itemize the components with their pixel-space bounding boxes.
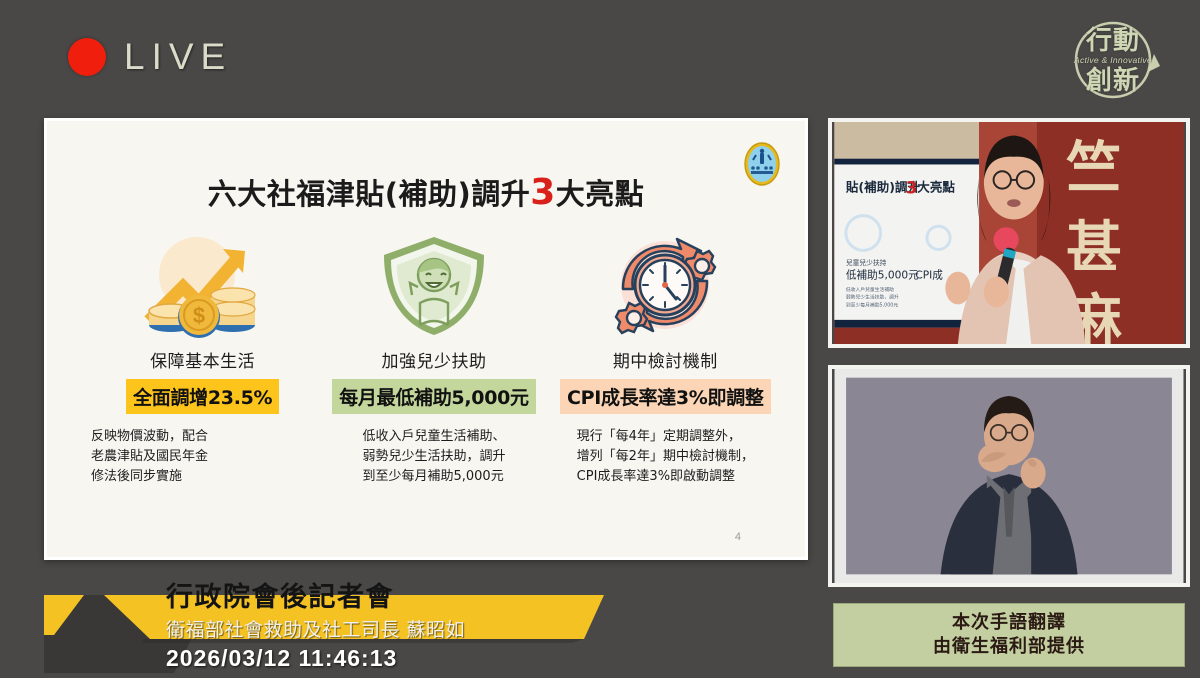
- brand-logo: 行動 Active & Innovative 創新: [1048, 14, 1178, 106]
- highlight-label-2: 加強兒少扶助: [381, 347, 486, 372]
- highlight-description-1: 反映物價波動，配合 老農津貼及國民年金 修法後同步實施: [91, 427, 208, 487]
- lower-third-banner: 行政院會後記者會 衛福部社會救助及社工司長 蘇昭如 2026/03/12 11:…: [44, 573, 604, 673]
- svg-text:竺: 竺: [1066, 136, 1122, 202]
- highlights-row: $ 保障基本生活 全面調增23.5% 反映物價波動，配合 老農津貼及國民年金 修…: [87, 229, 781, 487]
- highlight-description-3: 現行「每4年」定期調整外， 增列「每2年」期中檢討機制， CPI成長率達3%即啟…: [577, 427, 754, 487]
- svg-text:低收入戶兒童生活補助: 低收入戶兒童生活補助: [846, 286, 894, 293]
- svg-text:大亮點: 大亮點: [917, 179, 955, 194]
- brand-logo-line1: 行動: [1086, 27, 1140, 53]
- slide-page-number: 4: [735, 531, 741, 543]
- highlight-column-3: 期中檢討機制 CPI成長率達3%即調整 現行「每4年」定期調整外， 增列「每2年…: [550, 229, 781, 487]
- highlight-label-1: 保障基本生活: [150, 347, 255, 372]
- sign-language-video[interactable]: [828, 365, 1190, 587]
- svg-text:兒童兒少扶持: 兒童兒少扶持: [846, 258, 887, 267]
- live-indicator-dot: [68, 38, 106, 76]
- highlight-badge-3: CPI成長率達3%即調整: [560, 379, 771, 414]
- banner-subtitle: 衛福部社會救助及社工司長 蘇昭如: [166, 615, 465, 642]
- svg-text:弱勢兒少生活扶助，調升: 弱勢兒少生活扶助，調升: [846, 294, 899, 301]
- growth-chart-coins-icon: $: [141, 229, 265, 341]
- clock-gears-cycle-icon: [603, 229, 727, 341]
- highlight-column-2: 加強兒少扶助 每月最低補助5,000元 低收入戶兒童生活補助、 弱勢兒少生活扶助…: [318, 229, 549, 487]
- live-label: LIVE: [124, 36, 232, 78]
- speaker-video[interactable]: 貼(補助)調升 3 大亮點 兒童兒少扶持 低補助5,000元 CPI成 低收入戶…: [828, 118, 1190, 348]
- live-badge: LIVE: [68, 36, 232, 78]
- slide-title-prefix: 六大社福津貼(補助)調升: [208, 177, 531, 211]
- highlight-description-2: 低收入戶兒童生活補助、 弱勢兒少生活扶助，調升 到至少每月補助5,000元: [362, 427, 505, 487]
- slide-title-number: 3: [530, 172, 556, 213]
- svg-text:3: 3: [906, 178, 917, 197]
- broadcast-screen: LIVE 行動 Active & Innovative 創新: [0, 0, 1200, 678]
- svg-text:到至少每月補助5,000元: 到至少每月補助5,000元: [846, 301, 898, 308]
- slide-title: 六大社福津貼(補助)調升3大亮點: [47, 171, 805, 213]
- banner-title: 行政院會後記者會: [166, 575, 394, 614]
- brand-logo-line3: 創新: [1086, 67, 1140, 93]
- svg-text:低補助5,000元: 低補助5,000元: [846, 268, 919, 281]
- child-shield-icon: [372, 229, 496, 341]
- presentation-slide: 六大社福津貼(補助)調升3大亮點: [44, 118, 808, 560]
- sign-language-caption: 本次手語翻譯 由衛生福利部提供: [833, 603, 1185, 667]
- banner-timestamp: 2026/03/12 11:46:13: [166, 645, 397, 672]
- slide-title-suffix: 大亮點: [556, 177, 645, 211]
- highlight-label-3: 期中檢討機制: [613, 347, 718, 372]
- highlight-badge-2: 每月最低補助5,000元: [332, 379, 536, 414]
- brand-logo-line2: Active & Innovative: [1074, 55, 1152, 65]
- highlight-column-1: $ 保障基本生活 全面調增23.5% 反映物價波動，配合 老農津貼及國民年金 修…: [87, 229, 318, 487]
- highlight-badge-1: 全面調增23.5%: [126, 379, 279, 414]
- caption-line-1: 本次手語翻譯: [952, 611, 1066, 635]
- svg-text:甚: 甚: [1066, 215, 1122, 281]
- svg-text:$: $: [193, 303, 205, 328]
- caption-line-2: 由衛生福利部提供: [933, 635, 1085, 659]
- svg-text:CPI成: CPI成: [915, 268, 943, 281]
